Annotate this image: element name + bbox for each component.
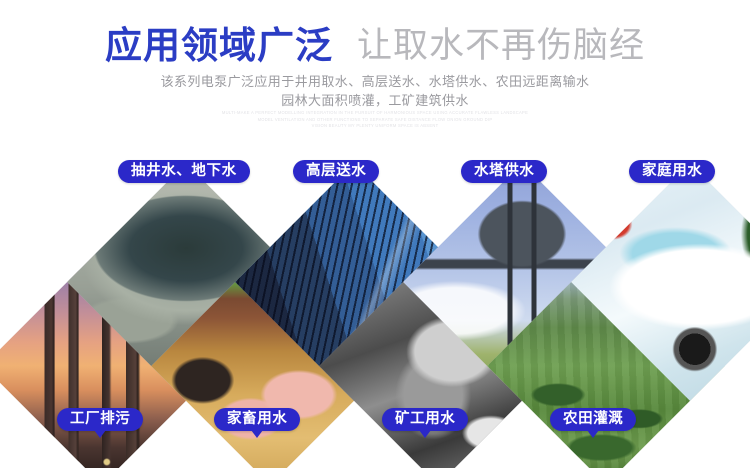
badge-watertower-label: 水塔供水 (474, 164, 534, 179)
badge-pointer-icon (419, 430, 431, 438)
badge-pointer-icon (94, 430, 106, 438)
page-title: 应用领域广泛 (105, 27, 333, 64)
badge-well[interactable]: 抽井水、地下水 (118, 160, 250, 183)
badge-factory-label: 工厂排污 (70, 412, 130, 427)
badge-livestock-label: 家畜用水 (227, 412, 287, 427)
badge-watertower[interactable]: 水塔供水 (461, 160, 547, 183)
badge-pointer-icon (587, 430, 599, 438)
badge-highrise[interactable]: 高层送水 (293, 160, 379, 183)
subtitle-line-2: 园林大面积喷灌，工矿建筑供水 (0, 91, 750, 110)
banner-header: 应用领域广泛 让取水不再伤脑经 该系列电泵广泛应用于井用取水、高层送水、水塔供水… (0, 0, 750, 145)
diamond-grid: 抽井水、地下水 高层送水 水塔供水 家庭用水 工厂排污 家畜用水 矿工用水 农田… (0, 160, 750, 468)
badge-household-label: 家庭用水 (642, 164, 702, 179)
badge-miner-label: 矿工用水 (395, 412, 455, 427)
badge-farmland[interactable]: 农田灌溉 (550, 408, 636, 431)
badge-highrise-label: 高层送水 (306, 164, 366, 179)
title-row: 应用领域广泛 让取水不再伤脑经 (0, 20, 750, 70)
subtitle-line-1: 该系列电泵广泛应用于井用取水、高层送水、水塔供水、农田远距离输水 (0, 72, 750, 91)
badge-household[interactable]: 家庭用水 (629, 160, 715, 183)
badge-farmland-label: 农田灌溉 (563, 412, 623, 427)
badge-miner[interactable]: 矿工用水 (382, 408, 468, 431)
subtitle-block: 该系列电泵广泛应用于井用取水、高层送水、水塔供水、农田远距离输水 园林大面积喷灌… (0, 72, 750, 110)
page-subtitle-headline: 让取水不再伤脑经 (357, 28, 645, 63)
badge-factory[interactable]: 工厂排污 (57, 408, 143, 431)
application-fields-banner: 应用领域广泛 让取水不再伤脑经 该系列电泵广泛应用于井用取水、高层送水、水塔供水… (0, 0, 750, 468)
microtext-line-3: VISION BEAUTY MY PLENTY UNIFORM SPACE IS… (0, 123, 750, 130)
badge-livestock[interactable]: 家畜用水 (214, 408, 300, 431)
decorative-microtext: MULTI-MAKE A PERFECT MODELLING INTEGRATI… (0, 110, 750, 130)
badge-well-label: 抽井水、地下水 (131, 164, 237, 179)
badge-pointer-icon (251, 430, 263, 438)
